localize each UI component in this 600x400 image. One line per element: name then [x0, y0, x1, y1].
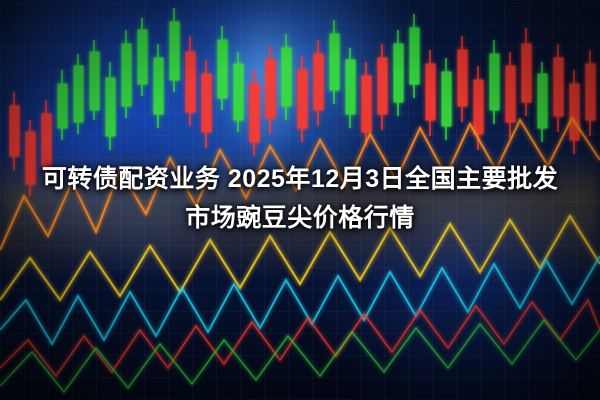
headline-line-1: 可转债配资业务 2025年12月3日全国主要批发 [0, 160, 600, 199]
headline-line-2: 市场豌豆尖价格行情 [0, 199, 600, 238]
headline-text: 可转债配资业务 2025年12月3日全国主要批发 市场豌豆尖价格行情 [0, 160, 600, 238]
cover-image: 可转债配资业务 2025年12月3日全国主要批发 市场豌豆尖价格行情 [0, 0, 600, 400]
